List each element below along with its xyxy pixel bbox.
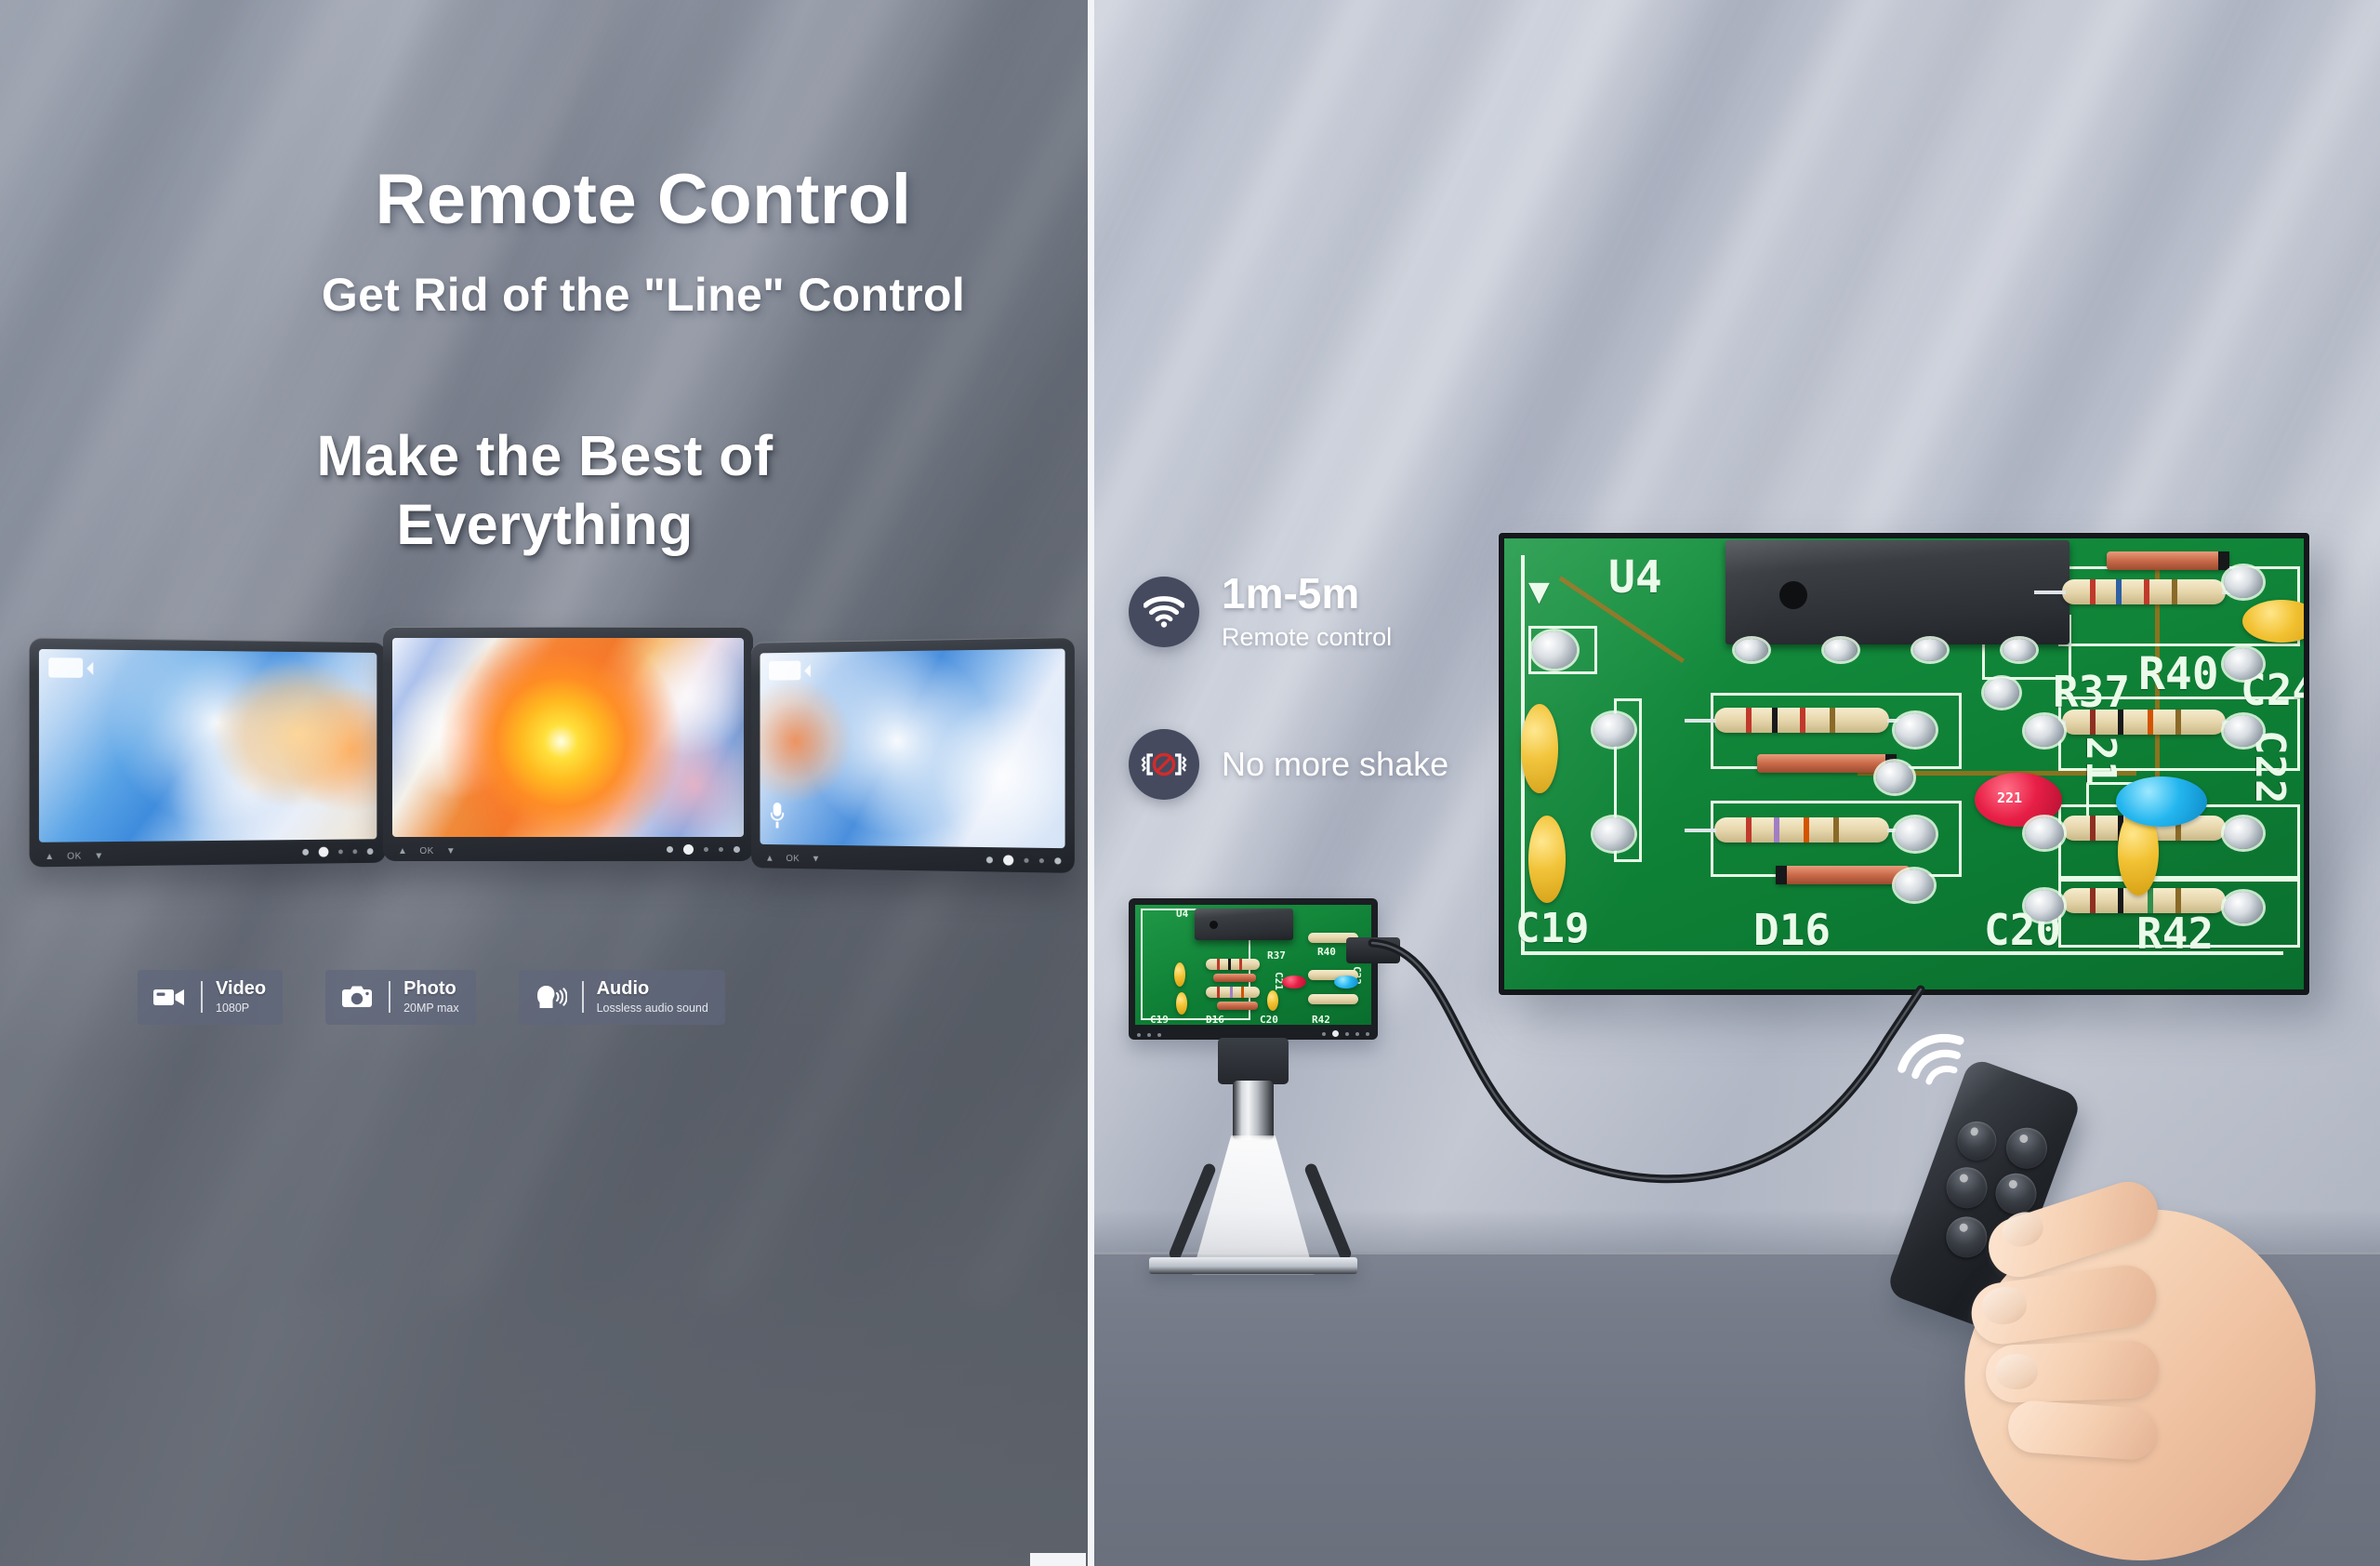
m-silk-r37: R37 (1267, 949, 1286, 962)
capacitor-blue (2116, 776, 2207, 827)
microscope-left-buttons[interactable] (1137, 1033, 1161, 1037)
remote-button-zoom-out[interactable] (1940, 1161, 1992, 1214)
resistor-r38 (1714, 817, 1889, 843)
wall-mounted-display[interactable]: ▼ U4 R37 C21 C19 D16 C20 R40 C24 C22 R42 (1499, 533, 2309, 995)
down-button[interactable]: ▼ (446, 846, 456, 856)
microscope-lcd: U4 R37 C21 C19 D16 C20 R40 C22 R42 (1129, 898, 1378, 1040)
badge-audio[interactable]: Audio Lossless audio sound (519, 970, 725, 1025)
badge-divider (582, 981, 584, 1013)
monitor-right-function-buttons[interactable] (986, 855, 1062, 866)
down-button[interactable]: ▼ (94, 851, 104, 861)
silk-label-c19: C19 (1515, 905, 1589, 952)
remote-button-record[interactable] (1940, 1211, 1992, 1263)
badge-photo-subtitle: 20MP max (403, 1001, 459, 1015)
remote-button-power[interactable] (1951, 1116, 2002, 1166)
monitor-center-bezel-buttons[interactable]: ▲ OK ▼ (398, 846, 456, 856)
flower-image-orange (392, 638, 744, 837)
monitor-center-function-buttons[interactable] (667, 844, 740, 855)
heading-line-1: Make the Best of (316, 424, 773, 487)
up-button[interactable]: ▲ (45, 852, 55, 862)
diode-d18 (2107, 551, 2229, 570)
left-panel-heading: Make the Best of Everything (0, 421, 1090, 560)
down-button[interactable]: ▼ (812, 854, 821, 864)
display-screen: ▼ U4 R37 C21 C19 D16 C20 R40 C24 C22 R42 (1504, 538, 2304, 989)
m-silk-u4: U4 (1176, 908, 1188, 920)
video-camera-icon (769, 661, 800, 681)
ok-button[interactable]: OK (67, 851, 82, 861)
camera-icon (338, 986, 376, 1008)
resistor-r37 (1714, 708, 1889, 733)
feature-remote-range-text: 1m-5m Remote control (1222, 571, 1392, 654)
capacitor-c19 (1521, 704, 1558, 793)
spec-badge-row: Video 1080P Photo 20MP max (138, 970, 725, 1025)
up-button[interactable]: ▲ (765, 854, 774, 864)
monitor-left-bezel-buttons[interactable]: ▲ OK ▼ (45, 851, 104, 862)
monitor-right-screen (760, 649, 1065, 849)
badge-divider (201, 981, 203, 1013)
feature-no-shake: No more shake (1129, 729, 1448, 800)
m-silk-d16: D16 (1206, 1014, 1224, 1025)
resistor-r40 (2062, 710, 2226, 735)
right-panel-heading: Remote Control (0, 159, 1287, 240)
monitor-right[interactable]: ▲ OK ▼ (751, 637, 1075, 873)
ok-button[interactable]: OK (419, 846, 433, 856)
microscope-focus-knob[interactable] (1218, 1038, 1289, 1084)
flower-image-blue (39, 649, 377, 843)
diode-d16 (1757, 754, 1897, 773)
heading-line-2: Everything (396, 493, 693, 556)
silk-label-u4: U4 (1608, 551, 1662, 604)
badge-divider (389, 981, 390, 1013)
monitor-center[interactable]: ▲ OK ▼ (383, 627, 753, 861)
wifi-icon (1129, 577, 1199, 647)
feature-remote-range: 1m-5m Remote control (1129, 571, 1392, 654)
microscope-lens-barrel (1233, 1081, 1274, 1140)
monitor-trio: ▲ OK ▼ ▲ OK ▼ (32, 625, 1073, 874)
diode-d17 (1776, 866, 1910, 884)
resistor-r39 (2062, 579, 2226, 604)
m-silk-c20: C20 (1260, 1014, 1278, 1025)
capacitor-code-label: 221 (1997, 790, 2022, 806)
microscope-screen: U4 R37 C21 C19 D16 C20 R40 C22 R42 (1135, 905, 1371, 1025)
feature-range-title: 1m-5m (1222, 571, 1392, 617)
monitor-right-bezel-buttons[interactable]: ▲ OK ▼ (765, 854, 820, 865)
badge-photo-text: Photo 20MP max (403, 978, 459, 1016)
monitor-left[interactable]: ▲ OK ▼ (30, 638, 386, 868)
silk-label-r40: R40 (2138, 648, 2219, 700)
microscope-right-buttons[interactable] (1322, 1030, 1369, 1037)
badge-video-text: Video 1080P (216, 978, 266, 1016)
hdmi-plug (1346, 937, 1400, 963)
badge-photo-title: Photo (403, 978, 459, 999)
badge-video[interactable]: Video 1080P (138, 970, 283, 1025)
microphone-icon (771, 803, 784, 829)
hand-holding-remote (1913, 1040, 2350, 1560)
bottom-edge-marker (1030, 1553, 1086, 1566)
badge-photo[interactable]: Photo 20MP max (325, 970, 476, 1025)
product-marketing-banner: Make the Best of Everything ▲ OK ▼ ▲ (0, 0, 2380, 1566)
no-shake-icon (1129, 729, 1199, 800)
microscope-base-plate (1149, 1257, 1357, 1274)
monitor-left-function-buttons[interactable] (302, 846, 373, 857)
capacitor-c19b (1528, 816, 1566, 903)
microscope-light-beam (1192, 1135, 1315, 1275)
feature-no-shake-text: No more shake (1222, 745, 1448, 784)
badge-audio-subtitle: Lossless audio sound (597, 1001, 708, 1015)
badge-audio-title: Audio (597, 978, 708, 999)
little-finger (2006, 1399, 2159, 1461)
ok-button[interactable]: OK (786, 854, 800, 864)
silk-label-r42: R42 (2136, 909, 2214, 959)
microscope-arm-right (1303, 1162, 1353, 1262)
badge-audio-text: Audio Lossless audio sound (597, 978, 708, 1016)
up-button[interactable]: ▲ (398, 846, 407, 856)
dip-ic-chip (1725, 540, 2069, 644)
pcb-macro-image: ▼ U4 R37 C21 C19 D16 C20 R40 C24 C22 R42 (1504, 538, 2304, 989)
m-silk-r42: R42 (1312, 1014, 1330, 1025)
badge-video-title: Video (216, 978, 266, 999)
speaking-head-icon (532, 985, 569, 1009)
monitor-left-screen (39, 649, 377, 843)
remote-button-capture[interactable] (2001, 1121, 2053, 1174)
m-silk-r40: R40 (1317, 946, 1336, 958)
feature-no-shake-title: No more shake (1222, 745, 1448, 783)
feature-range-subtitle: Remote control (1222, 621, 1392, 654)
silk-label-d16: D16 (1753, 905, 1831, 955)
flower-image-pastel (760, 649, 1065, 849)
badge-video-subtitle: 1080P (216, 1001, 266, 1015)
monitor-center-screen (392, 638, 744, 837)
m-silk-c19: C19 (1150, 1014, 1169, 1025)
right-panel-subheading: Get Rid of the "Line" Control (0, 268, 1287, 322)
video-camera-icon (151, 987, 188, 1007)
video-camera-icon (48, 657, 83, 678)
